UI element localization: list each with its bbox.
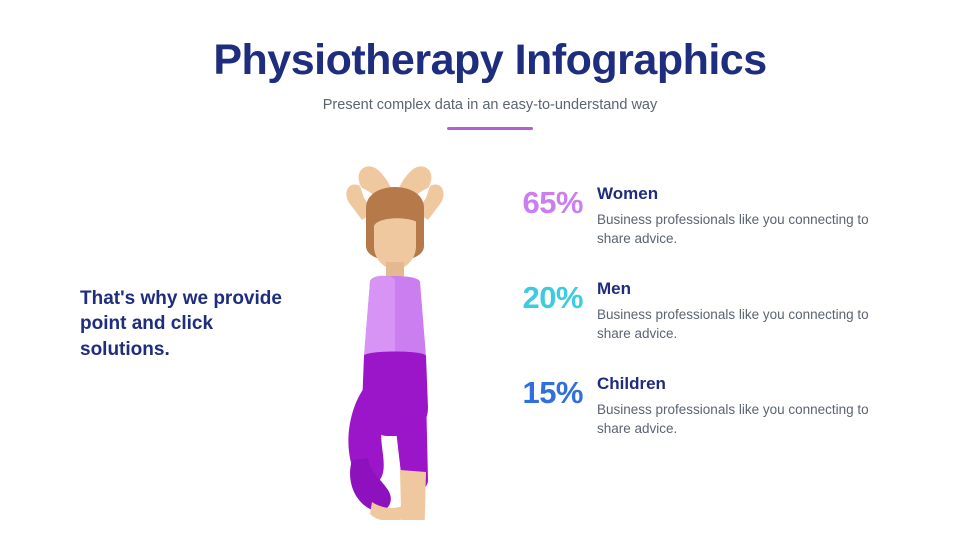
stat-body-men: Men Business professionals like you conn… bbox=[597, 280, 925, 343]
stat-percent-men: 20% bbox=[505, 280, 597, 313]
statement-text: That's why we provide point and click so… bbox=[80, 286, 290, 362]
stat-description-women: Business professionals like you connecti… bbox=[597, 210, 897, 248]
title-underline-divider bbox=[447, 127, 533, 130]
list-item: 20% Men Business professionals like you … bbox=[505, 280, 925, 343]
stat-description-men: Business professionals like you connecti… bbox=[597, 305, 897, 343]
page-title: Physiotherapy Infographics bbox=[0, 38, 980, 83]
list-item: 65% Women Business professionals like yo… bbox=[505, 185, 925, 248]
stat-label-men: Men bbox=[597, 280, 925, 299]
slide-header: Physiotherapy Infographics Present compl… bbox=[0, 38, 980, 130]
page-subtitle: Present complex data in an easy-to-under… bbox=[0, 97, 980, 113]
stat-description-children: Business professionals like you connecti… bbox=[597, 400, 897, 438]
stat-percent-children: 15% bbox=[505, 375, 597, 408]
stat-body-women: Women Business professionals like you co… bbox=[597, 185, 925, 248]
stat-body-children: Children Business professionals like you… bbox=[597, 375, 925, 438]
stat-label-children: Children bbox=[597, 375, 925, 394]
stat-percent-women: 65% bbox=[505, 185, 597, 218]
woman-yoga-tree-pose-illustration bbox=[300, 150, 490, 520]
list-item: 15% Children Business professionals like… bbox=[505, 375, 925, 438]
stats-list: 65% Women Business professionals like yo… bbox=[505, 185, 925, 470]
slide-canvas: Physiotherapy Infographics Present compl… bbox=[0, 0, 980, 551]
stat-label-women: Women bbox=[597, 185, 925, 204]
